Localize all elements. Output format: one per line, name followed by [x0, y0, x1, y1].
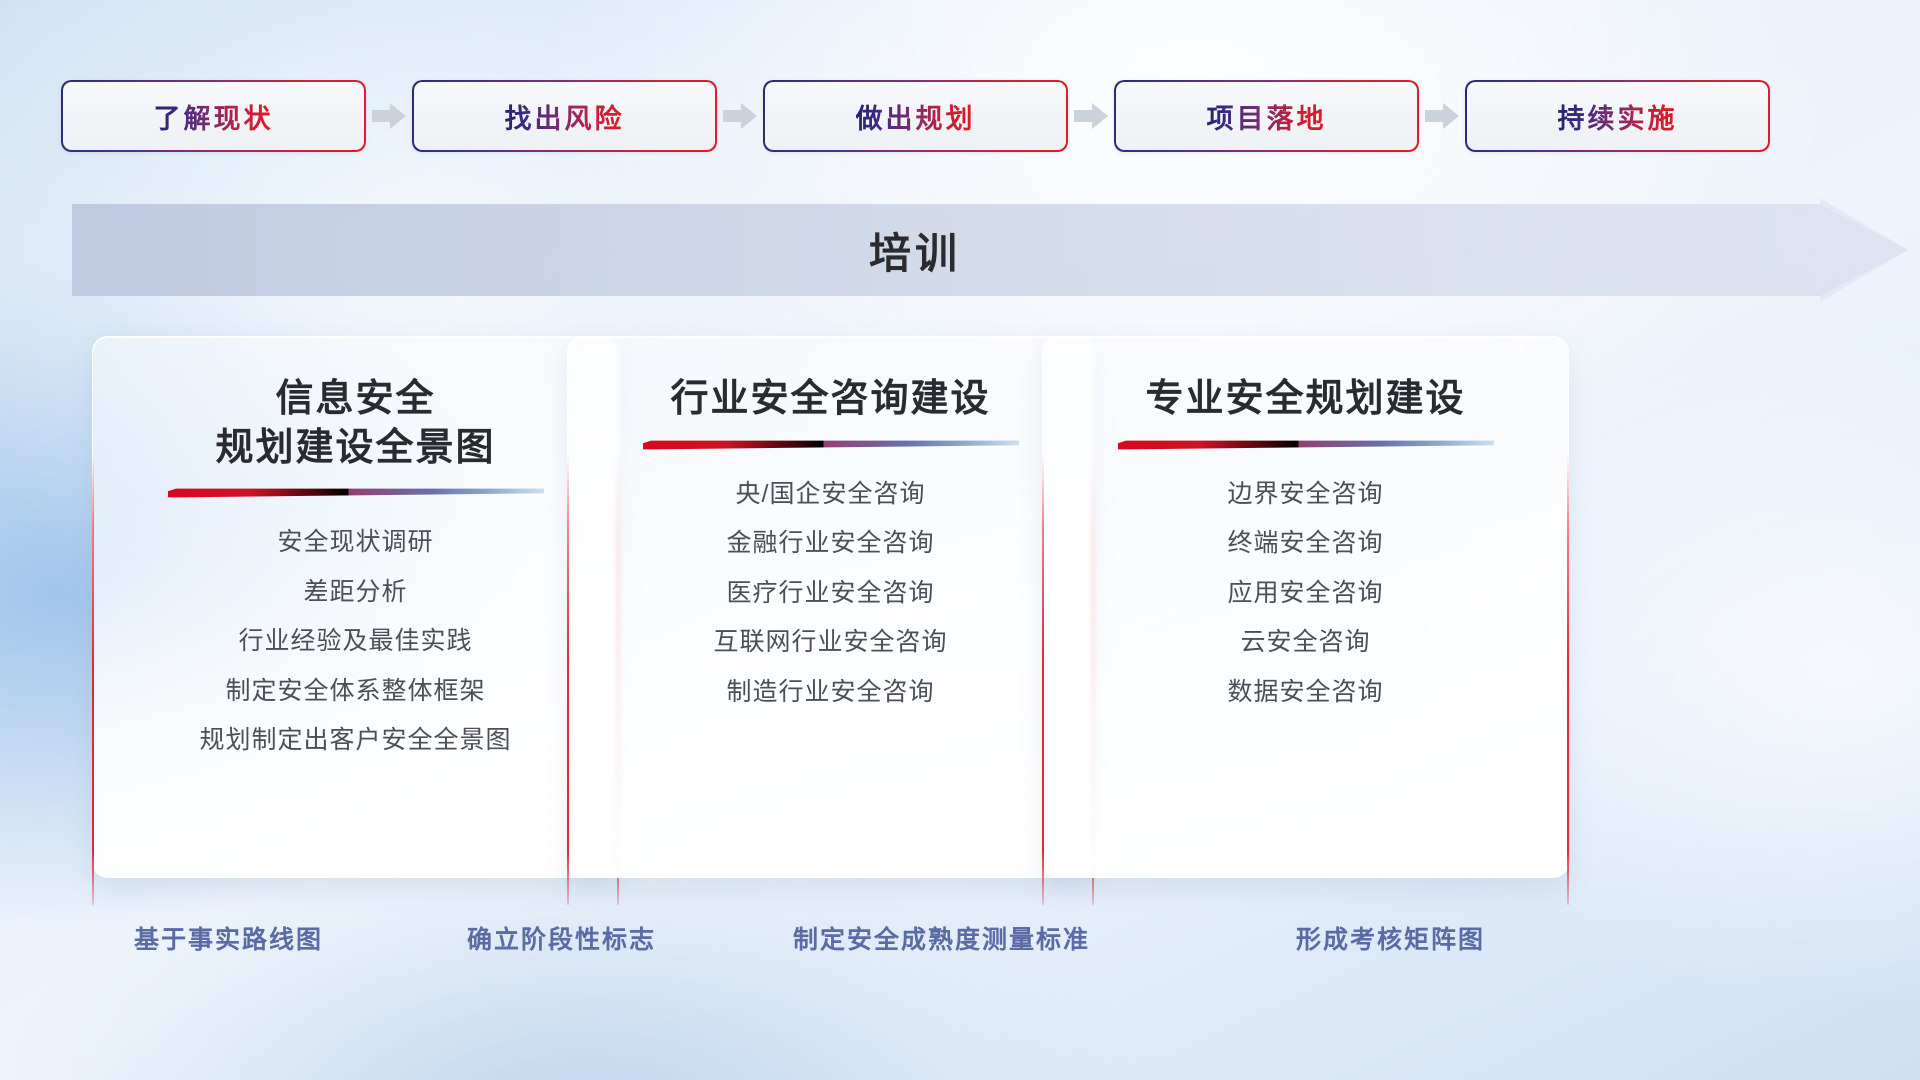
card-item-list: 央/国企安全咨询金融行业安全咨询医疗行业安全咨询互联网行业安全咨询制造行业安全咨…	[713, 474, 947, 714]
card-list-item[interactable]: 边界安全咨询	[1227, 474, 1383, 516]
card-list-item[interactable]: 规划制定出客户安全全景图	[199, 720, 511, 762]
process-step-row: 了解现状找出风险做出规划项目落地持续实施	[0, 78, 1920, 154]
gradient-underline-icon	[643, 440, 1019, 452]
service-card-3[interactable]: 专业安全规划建设边界安全咨询终端安全咨询应用安全咨询云安全咨询数据安全咨询	[1042, 336, 1569, 878]
process-step-label: 项目落地	[1207, 97, 1327, 136]
process-step-4[interactable]: 项目落地	[1114, 80, 1419, 152]
service-card-2[interactable]: 行业安全咨询建设央/国企安全咨询金融行业安全咨询医疗行业安全咨询互联网行业安全咨…	[567, 336, 1094, 878]
card-list-item[interactable]: 数据安全咨询	[1227, 672, 1383, 714]
card-title: 专业安全规划建设	[1145, 375, 1465, 424]
card-list-item[interactable]: 终端安全咨询	[1227, 523, 1383, 565]
training-banner: 培训	[0, 198, 1920, 302]
card-list-item[interactable]: 差距分析	[303, 572, 407, 614]
card-title: 行业安全咨询建设	[670, 375, 990, 424]
process-step-label: 找出风险	[505, 97, 625, 136]
card-list-item[interactable]: 制定安全体系整体框架	[225, 671, 485, 713]
chevron-right-arrow-icon	[1419, 80, 1465, 152]
process-step-2[interactable]: 找出风险	[412, 80, 717, 152]
footnote-1: 基于事实路线图	[134, 920, 323, 956]
card-title: 信息安全 规划建设全景图	[215, 375, 495, 472]
process-step-1[interactable]: 了解现状	[61, 80, 366, 152]
service-card-1[interactable]: 信息安全 规划建设全景图安全现状调研差距分析行业经验及最佳实践制定安全体系整体框…	[92, 336, 619, 878]
process-step-label: 了解现状	[154, 97, 274, 136]
footnote-4: 形成考核矩阵图	[1296, 920, 1485, 956]
card-item-list: 边界安全咨询终端安全咨询应用安全咨询云安全咨询数据安全咨询	[1227, 474, 1383, 714]
chevron-right-arrow-icon	[1068, 80, 1114, 152]
card-list-item[interactable]: 制造行业安全咨询	[726, 672, 934, 714]
card-list-item[interactable]: 互联网行业安全咨询	[713, 622, 947, 664]
process-step-5[interactable]: 持续实施	[1465, 80, 1770, 152]
training-banner-label: 培训	[0, 198, 1830, 302]
chevron-right-arrow-icon	[717, 80, 763, 152]
gradient-underline-icon	[168, 488, 544, 500]
slide-canvas: 了解现状找出风险做出规划项目落地持续实施 培训 信息安全 规划建设全景图安全现状…	[0, 0, 1920, 1080]
footnote-row: 基于事实路线图确立阶段性标志制定安全成熟度测量标准形成考核矩阵图	[0, 920, 1920, 964]
process-step-3[interactable]: 做出规划	[763, 80, 1068, 152]
card-list-item[interactable]: 央/国企安全咨询	[736, 474, 926, 516]
footnote-2: 确立阶段性标志	[467, 920, 656, 956]
process-step-label: 持续实施	[1558, 97, 1678, 136]
card-list-item[interactable]: 行业经验及最佳实践	[238, 621, 472, 663]
card-list-item[interactable]: 金融行业安全咨询	[726, 523, 934, 565]
card-row: 信息安全 规划建设全景图安全现状调研差距分析行业经验及最佳实践制定安全体系整体框…	[0, 336, 1920, 878]
process-step-label: 做出规划	[856, 97, 976, 136]
card-list-item[interactable]: 安全现状调研	[277, 522, 433, 564]
card-item-list: 安全现状调研差距分析行业经验及最佳实践制定安全体系整体框架规划制定出客户安全全景…	[199, 522, 511, 762]
card-list-item[interactable]: 医疗行业安全咨询	[726, 573, 934, 615]
gradient-underline-icon	[1118, 440, 1494, 452]
footnote-3: 制定安全成熟度测量标准	[793, 920, 1090, 956]
card-list-item[interactable]: 应用安全咨询	[1227, 573, 1383, 615]
card-list-item[interactable]: 云安全咨询	[1240, 622, 1370, 664]
chevron-right-arrow-icon	[366, 80, 412, 152]
